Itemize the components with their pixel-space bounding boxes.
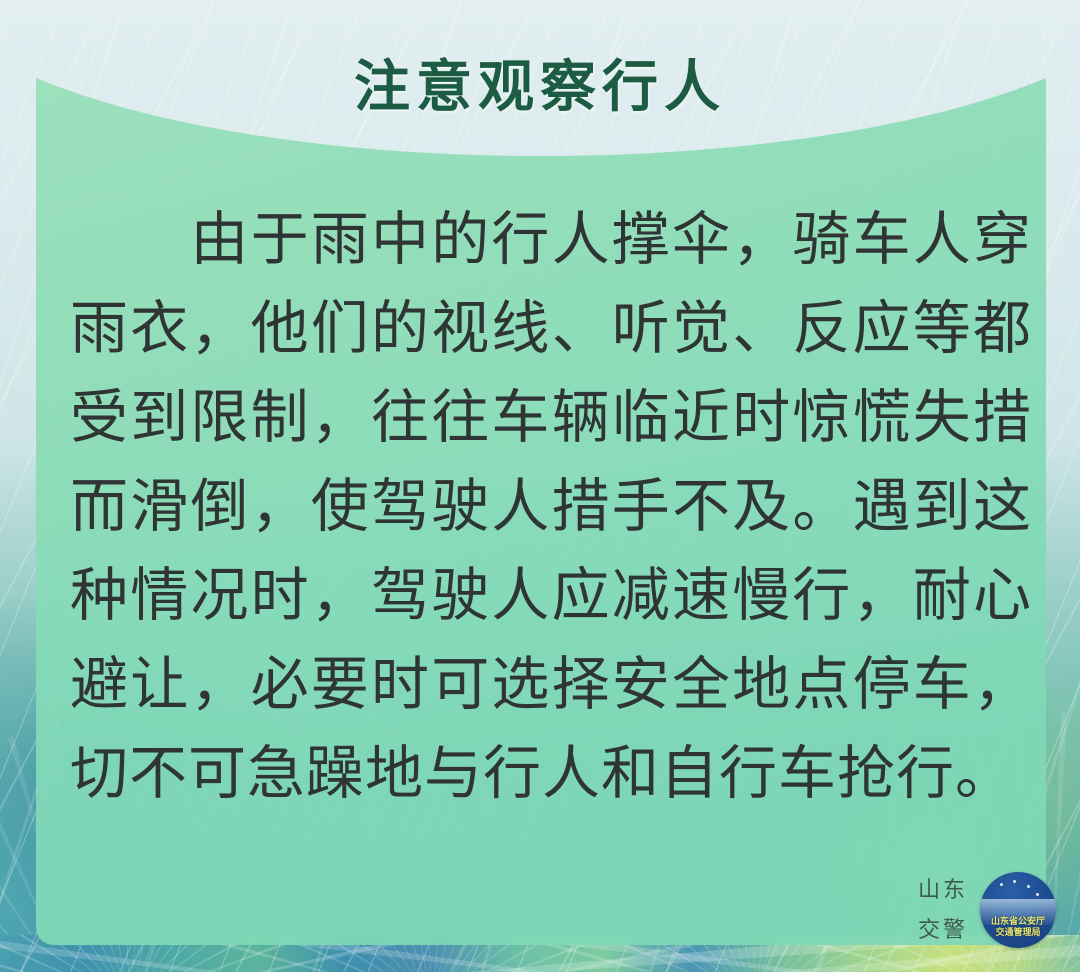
content-card: 由于雨中的行人撑伞，骑车人穿雨衣，他们的视线、听觉、反应等都受到限制，往往车辆临… bbox=[36, 70, 1046, 945]
poster-root: 由于雨中的行人撑伞，骑车人穿雨衣，他们的视线、听觉、反应等都受到限制，往往车辆临… bbox=[0, 0, 1080, 972]
card-text-area: 由于雨中的行人撑伞，骑车人穿雨衣，他们的视线、听觉、反应等都受到限制，往往车辆临… bbox=[36, 70, 1046, 945]
logo-star-2 bbox=[1013, 880, 1016, 883]
signature-line-2: 交警 bbox=[918, 910, 968, 950]
department-logo: 山东省公安厅 交通管理局 bbox=[980, 872, 1056, 948]
signature-block: 山东 交警 bbox=[918, 870, 968, 950]
signature-line-1: 山东 bbox=[918, 870, 968, 910]
logo-star-4 bbox=[1036, 893, 1039, 896]
body-paragraph: 由于雨中的行人撑伞，骑车人穿雨衣，他们的视线、听觉、反应等都受到限制，往往车辆临… bbox=[70, 195, 1032, 818]
logo-star-3 bbox=[1027, 885, 1030, 888]
logo-star-1 bbox=[1000, 883, 1003, 886]
logo-caption: 山东省公安厅 交通管理局 bbox=[980, 916, 1056, 938]
page-title: 注意观察行人 bbox=[0, 42, 1080, 123]
logo-caption-line-2: 交通管理局 bbox=[980, 927, 1056, 938]
logo-caption-line-1: 山东省公安厅 bbox=[980, 916, 1056, 927]
